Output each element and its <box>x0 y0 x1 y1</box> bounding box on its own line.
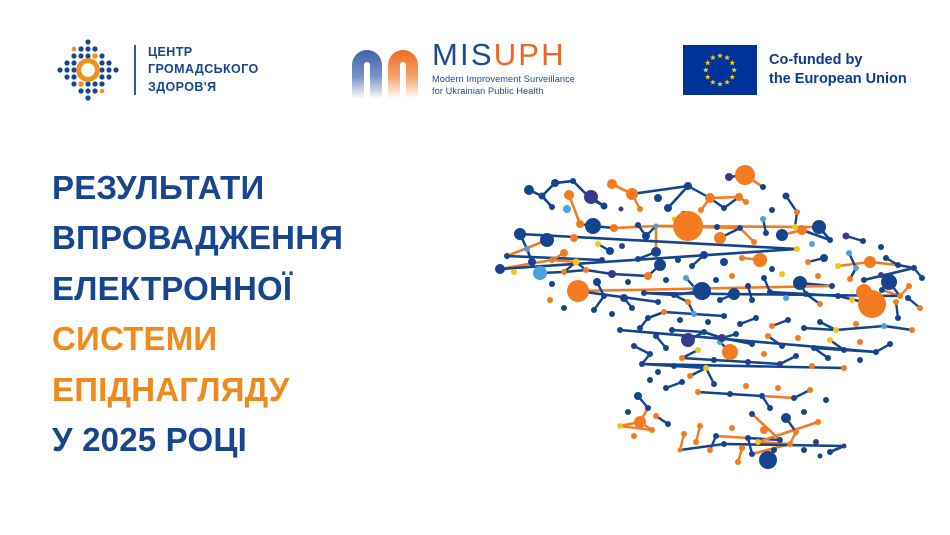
phc-logo-text: ЦЕНТР ГРОМАДСЬКОГО ЗДОРОВ'Я <box>148 44 259 96</box>
logo-bar: ЦЕНТР ГРОМАДСЬКОГО ЗДОРОВ'Я <box>0 0 950 135</box>
eu-funding-text: Co-funded by the European Union <box>769 51 907 89</box>
headline-line-1: РЕЗУЛЬТАТИ <box>52 163 472 213</box>
misuph-wordmark: MISUPH Modern Improvement Surveillance f… <box>432 39 575 97</box>
headline-line-2: ВПРОВАДЖЕННЯ <box>52 213 472 263</box>
european-union-logo: Co-funded by the European Union <box>683 44 918 96</box>
misuph-tagline-line-1: Modern Improvement Surveillance <box>432 73 575 85</box>
phc-logo-line-1: ЦЕНТР <box>148 44 259 61</box>
misuph-m-logo-mark <box>350 39 424 101</box>
slide-canvas: ЦЕНТР ГРОМАДСЬКОГО ЗДОРОВ'Я <box>0 0 950 535</box>
misuph-word-part-2: UPH <box>494 37 566 72</box>
ukraine-network-map <box>452 150 950 500</box>
public-health-center-logo: ЦЕНТР ГРОМАДСЬКОГО ЗДОРОВ'Я <box>52 32 312 108</box>
headline-line-3: ЕЛЕКТРОННОЇ <box>52 264 472 314</box>
eu-funding-line-1: Co-funded by <box>769 51 907 70</box>
phc-dot-diamond-logo-mark <box>52 34 124 106</box>
phc-logo-divider <box>134 45 136 95</box>
headline-line-4: СИСТЕМИ <box>52 314 472 364</box>
eu-funding-line-2: the European Union <box>769 70 907 89</box>
misuph-tagline: Modern Improvement Surveillance for Ukra… <box>432 73 575 97</box>
headline-line-5: ЕПІДНАГЛЯДУ <box>52 365 472 415</box>
phc-logo-line-3: ЗДОРОВ'Я <box>148 79 259 96</box>
phc-logo-line-2: ГРОМАДСЬКОГО <box>148 61 259 78</box>
misuph-logo: MISUPH Modern Improvement Surveillance f… <box>350 34 640 106</box>
headline-block: РЕЗУЛЬТАТИ ВПРОВАДЖЕННЯ ЕЛЕКТРОННОЇ СИСТ… <box>52 163 472 466</box>
misuph-word-part-1: MIS <box>432 37 494 72</box>
eu-flag-icon <box>683 45 757 95</box>
misuph-word: MISUPH <box>432 39 575 70</box>
misuph-tagline-line-2: for Ukrainian Public Health <box>432 85 575 97</box>
headline-line-6: У 2025 РОЦІ <box>52 415 472 465</box>
